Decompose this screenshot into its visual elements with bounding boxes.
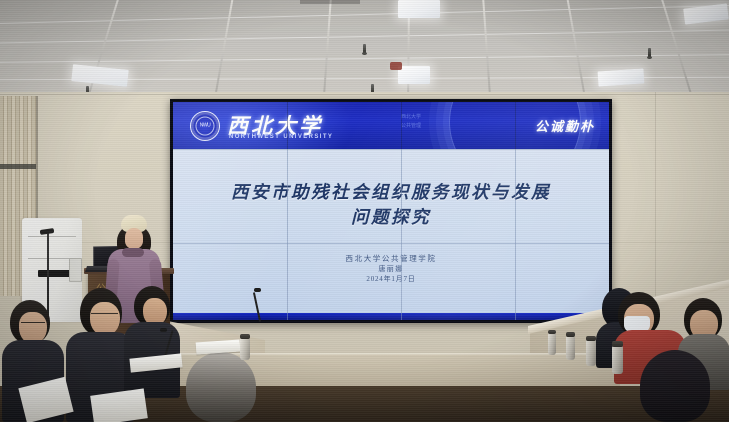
smoke-detector-icon — [390, 62, 402, 70]
presentation-slide: NWU 西北大学 NORTHWEST UNIVERSITY 西北大学 公共管理 … — [173, 102, 609, 320]
ceiling — [0, 0, 729, 100]
slide-footer-band — [173, 313, 609, 320]
thermos-cup — [586, 340, 596, 366]
header-motto-banner: 公诚勤朴 — [535, 116, 595, 135]
slide-header: NWU 西北大学 NORTHWEST UNIVERSITY 西北大学 公共管理 … — [173, 102, 609, 149]
thermos-cup-lid — [566, 332, 575, 337]
thermos-cup — [566, 336, 575, 360]
panel-seam — [515, 149, 516, 320]
desk-microphone-head — [160, 328, 167, 332]
attendee-head — [186, 352, 256, 422]
glasses-icon — [91, 313, 118, 318]
panel-seam — [287, 149, 288, 320]
panel-seam — [173, 243, 609, 244]
panel-seam — [287, 102, 288, 149]
panel-seam — [515, 102, 516, 149]
thermos-cup-lid — [240, 334, 250, 339]
slide-subtitle-block: 西北大学公共管理学院 唐丽娜 2024年1月7日 — [173, 254, 609, 285]
thermos-cup-lid — [586, 336, 596, 341]
university-name-en: NORTHWEST UNIVERSITY — [229, 134, 333, 140]
attendee-front-center — [172, 352, 268, 422]
university-emblem-icon: NWU — [190, 111, 220, 141]
ceiling-light — [398, 0, 440, 18]
slide-title-line-1: 西安市助残社会组织服务现状与发展 — [173, 180, 609, 205]
header-faint-text: 西北大学 公共管理 — [401, 113, 421, 131]
panel-seam — [401, 102, 402, 149]
emblem-inner-label: NWU — [196, 117, 215, 136]
slide-affiliation: 西北大学公共管理学院 — [173, 254, 609, 264]
thermos-cup — [612, 346, 623, 374]
attendee-right-4 — [630, 350, 729, 422]
slide-title-line-2: 问题探究 — [173, 205, 609, 230]
attendee-face — [90, 302, 120, 336]
video-wall[interactable]: NWU 西北大学 NORTHWEST UNIVERSITY 西北大学 公共管理 … — [170, 99, 612, 323]
thermos-cup — [548, 333, 556, 355]
panel-seam — [401, 149, 402, 320]
ceiling-light — [598, 68, 645, 86]
glasses-icon — [21, 322, 45, 327]
thermos-cup-lid — [612, 341, 623, 347]
presenter-collar — [122, 248, 144, 257]
ceiling-light — [398, 66, 430, 84]
presenter-face — [125, 228, 143, 249]
seminar-room-photo: NWU 西北大学 NORTHWEST UNIVERSITY 西北大学 公共管理 … — [0, 0, 729, 422]
slide-date: 2024年1月7日 — [173, 274, 609, 285]
ac-display-panel — [69, 258, 82, 282]
thermos-cup-lid — [548, 330, 556, 334]
attendee-head — [640, 350, 710, 422]
sprinkler-head — [648, 48, 651, 57]
sprinkler-head — [363, 44, 366, 53]
slide-presenter-name: 唐丽娜 — [173, 264, 609, 274]
panel-seam — [173, 149, 609, 150]
slide-title: 西安市助残社会组织服务现状与发展 问题探究 — [173, 180, 609, 230]
thermos-cup — [240, 338, 250, 360]
ceiling-light — [71, 64, 128, 87]
desk-microphone-head — [254, 288, 261, 292]
